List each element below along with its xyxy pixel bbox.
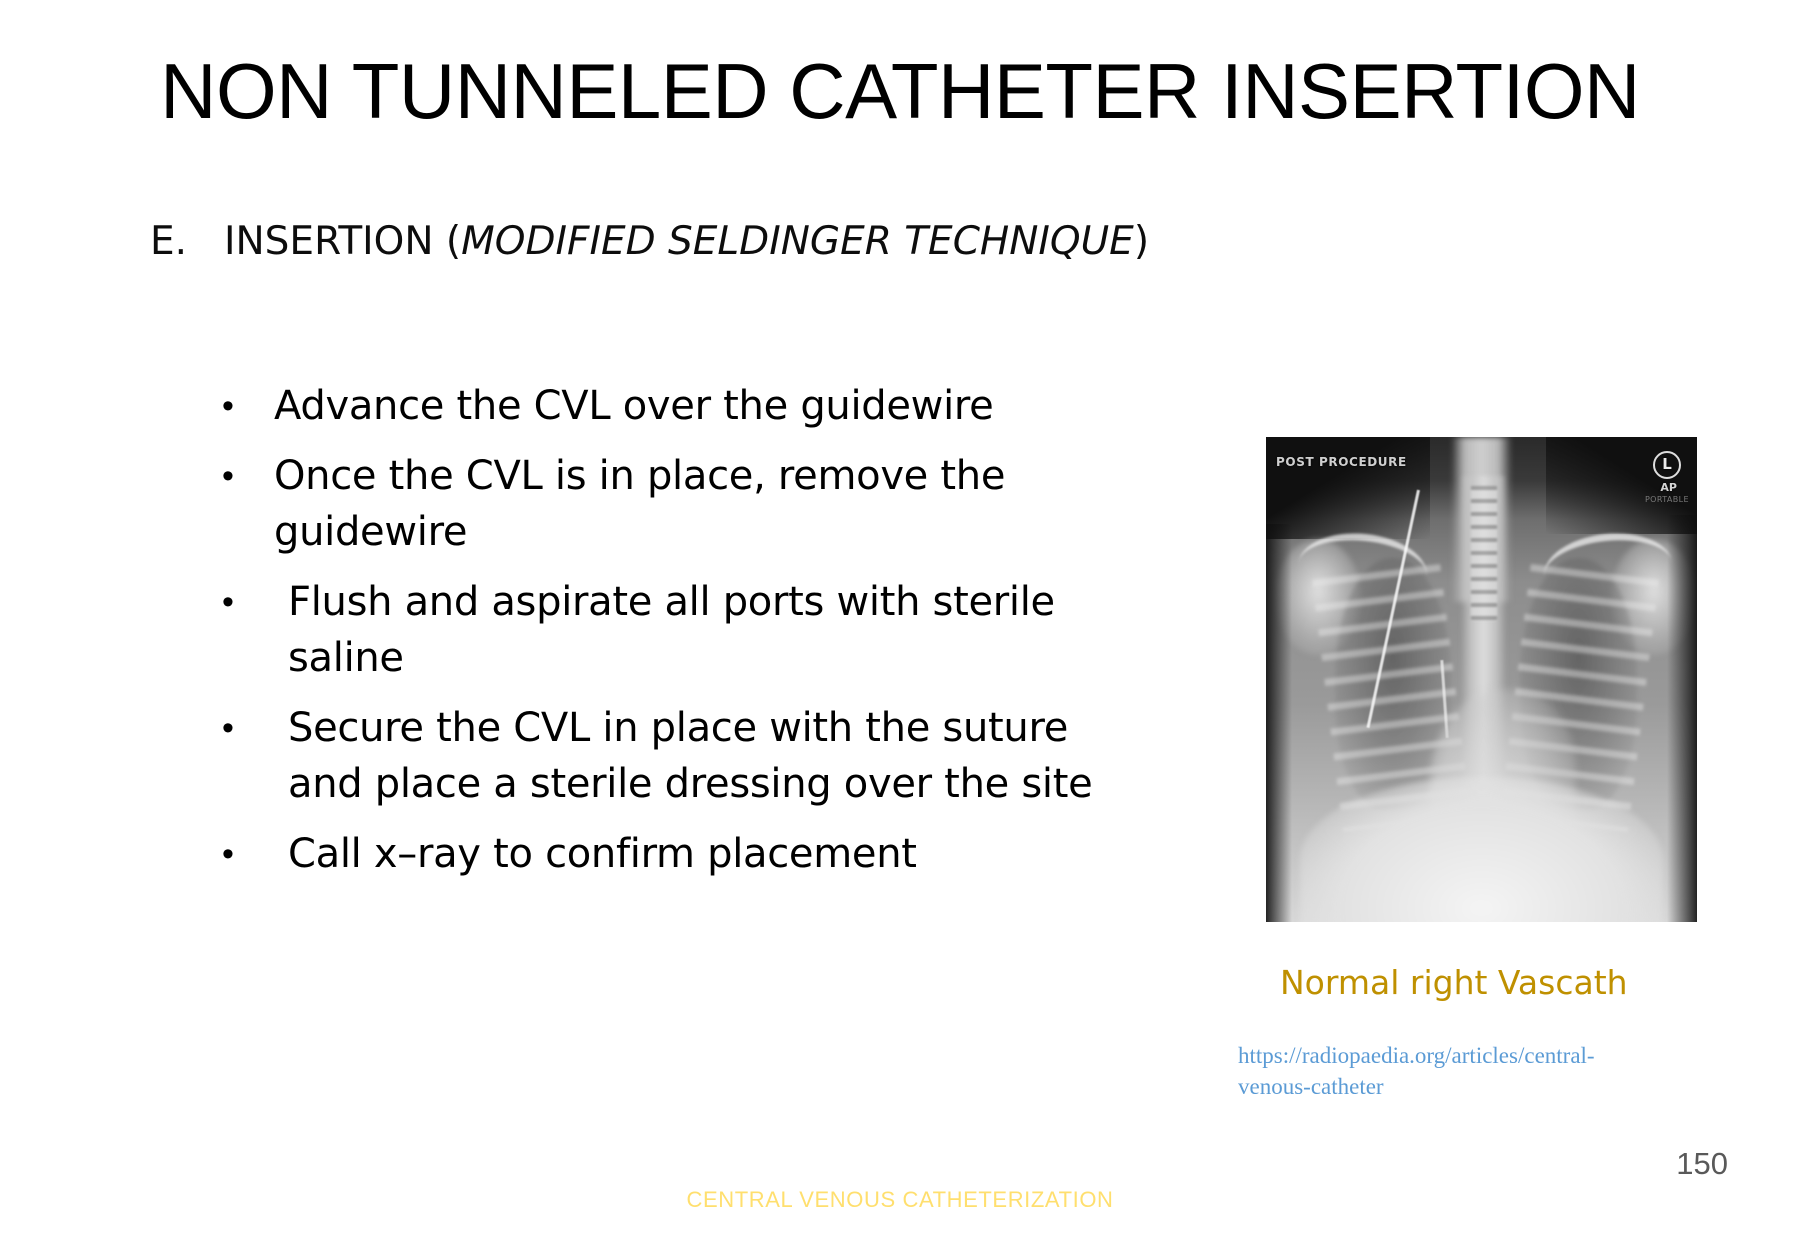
- list-item: • Flush and aspirate all ports with ster…: [208, 574, 1108, 686]
- figure-caption: Normal right Vascath: [1240, 962, 1720, 1004]
- bullet-icon: •: [208, 700, 274, 756]
- list-item: • Once the CVL is in place, remove the g…: [208, 448, 1108, 560]
- bullet-icon: •: [208, 826, 274, 882]
- xray-left-side-marker-icon: L: [1653, 451, 1681, 479]
- xray-post-procedure-label: POST PROCEDURE: [1276, 455, 1407, 469]
- subheading-text-after: ): [1134, 219, 1149, 264]
- xray-gutter-left: [1266, 524, 1292, 922]
- page-number: 150: [1676, 1146, 1728, 1182]
- list-item-label: Advance the CVL over the guidewire: [274, 378, 1108, 434]
- subheading-text-italic: MODIFIED SELDINGER TECHNIQUE: [461, 219, 1134, 264]
- xray-frame: POST PROCEDURE L AP PORTABLE: [1266, 437, 1697, 922]
- slide-footer: CENTRAL VENOUS CATHETERIZATION: [0, 1187, 1800, 1213]
- xray-technique-label: PORTABLE: [1645, 495, 1689, 504]
- list-item-label: Flush and aspirate all ports with steril…: [274, 574, 1108, 686]
- xray-vertebrae: [1471, 486, 1497, 622]
- chest-xray-image: POST PROCEDURE L AP PORTABLE: [1266, 437, 1697, 922]
- section-subheading: E.INSERTION (MODIFIED SELDINGER TECHNIQU…: [150, 216, 1149, 268]
- procedure-bullet-list: • Advance the CVL over the guidewire • O…: [208, 378, 1108, 896]
- page-title: NON TUNNELED CATHETER INSERTION: [0, 46, 1800, 136]
- list-item-label: Call x–ray to confirm placement: [274, 826, 1108, 882]
- subheading-marker: E.: [150, 216, 224, 268]
- list-item: • Call x–ray to confirm placement: [208, 826, 1108, 882]
- list-item: • Advance the CVL over the guidewire: [208, 378, 1108, 434]
- list-item-label: Once the CVL is in place, remove the gui…: [274, 448, 1108, 560]
- figure-source-link[interactable]: https://radiopaedia.org/articles/central…: [1238, 1040, 1658, 1102]
- subheading-text-before: INSERTION (: [224, 219, 461, 264]
- bullet-icon: •: [208, 448, 274, 504]
- bullet-icon: •: [208, 574, 274, 630]
- list-item: • Secure the CVL in place with the sutur…: [208, 700, 1108, 812]
- bullet-icon: •: [208, 378, 274, 434]
- xray-gutter-right: [1667, 515, 1697, 922]
- list-item-label: Secure the CVL in place with the suture …: [274, 700, 1108, 812]
- xray-projection-label: AP: [1660, 481, 1677, 494]
